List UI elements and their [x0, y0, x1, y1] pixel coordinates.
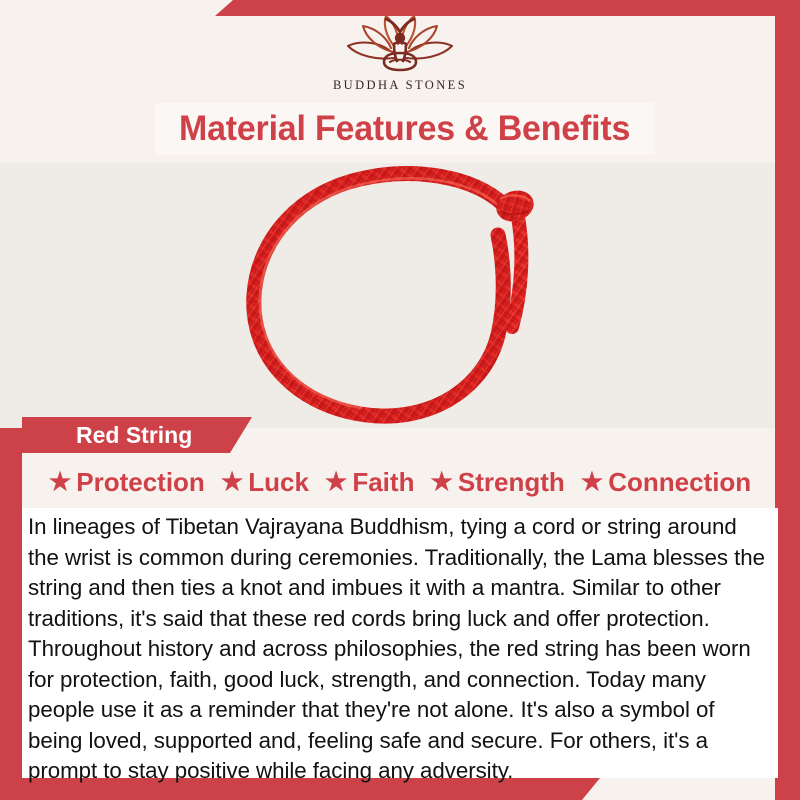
page-title: Material Features & Benefits — [179, 109, 630, 149]
star-icon: ★ — [430, 470, 452, 495]
brand-wordmark: BUDDHA STONES — [333, 78, 467, 93]
decor-band-right — [775, 0, 800, 800]
feature-label: Connection — [608, 467, 751, 498]
feature-label: Luck — [248, 467, 309, 498]
section-ribbon-label: Red String — [22, 422, 192, 449]
brand-logo: BUDDHA STONES — [0, 14, 800, 102]
feature-item-connection: ★ Connection — [574, 467, 758, 498]
feature-item-luck: ★ Luck — [214, 467, 316, 498]
feature-item-strength: ★ Strength — [423, 467, 571, 498]
product-photo-panel — [0, 163, 775, 428]
red-string-bracelet-image — [232, 163, 562, 428]
star-icon: ★ — [581, 470, 603, 495]
lotus-meditation-icon — [334, 14, 466, 76]
feature-label: Protection — [76, 467, 205, 498]
description-text: In lineages of Tibetan Vajrayana Buddhis… — [22, 512, 778, 787]
infographic-root: BUDDHA STONES Material Features & Benefi… — [0, 0, 800, 800]
feature-item-faith: ★ Faith — [318, 467, 422, 498]
star-icon: ★ — [49, 470, 71, 495]
description-card: In lineages of Tibetan Vajrayana Buddhis… — [22, 508, 778, 778]
star-icon: ★ — [221, 470, 243, 495]
feature-item-protection: ★ Protection — [42, 467, 212, 498]
title-plaque: Material Features & Benefits — [155, 103, 655, 155]
feature-list: ★ Protection ★ Luck ★ Faith ★ Strength ★… — [22, 463, 778, 501]
section-ribbon: Red String — [22, 417, 252, 453]
feature-label: Faith — [352, 467, 414, 498]
star-icon: ★ — [325, 470, 347, 495]
feature-label: Strength — [458, 467, 565, 498]
